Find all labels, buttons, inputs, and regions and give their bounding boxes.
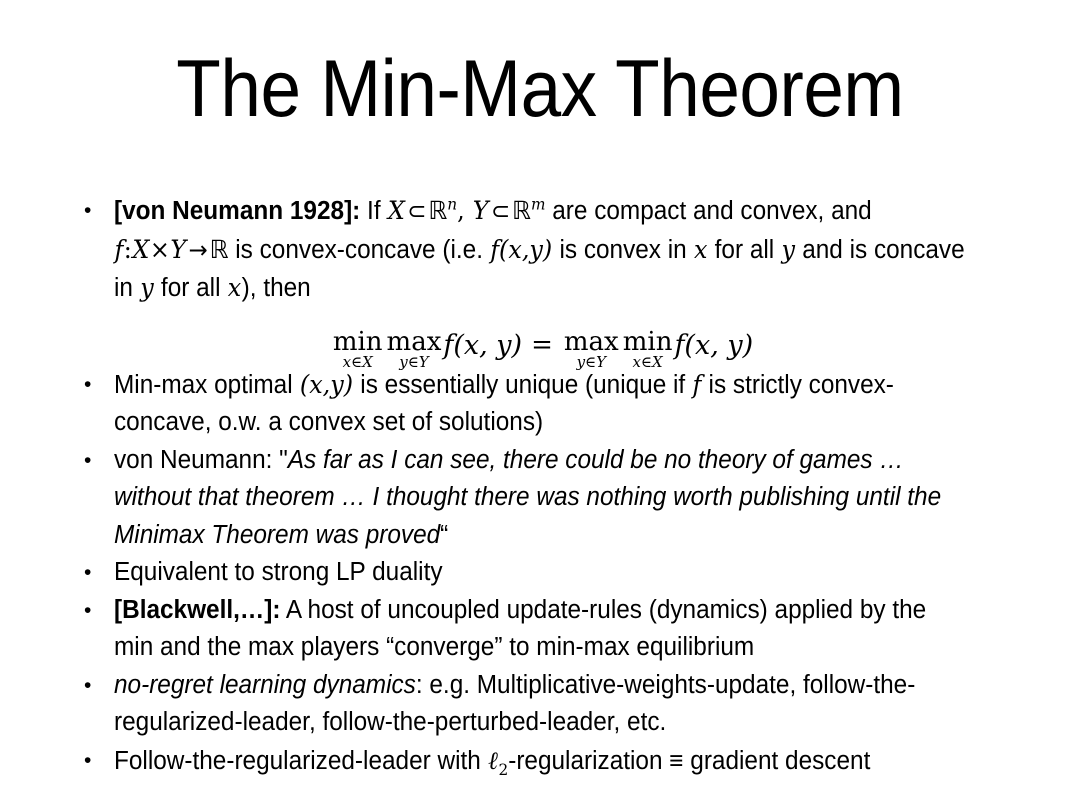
list-item-quote: • von Neumann: "As far as I can see, the… [78,442,1008,555]
math-arrow-symbol: → [187,236,210,264]
math-reals-2-exponent: m [531,195,545,214]
uniqueness-part-2: is essentially unique (unique if [354,371,692,399]
math-ell-subscript: 2 [498,760,508,779]
math-times-symbol: × [150,235,170,264]
slide: The Min-Max Theorem • [von Neumann 1928]… [0,0,1080,810]
math-domain-X: X [132,235,150,264]
quote-close-mark: “ [440,521,448,549]
min-operator-limit: x∈X [333,355,383,370]
math-var-x: x [693,235,707,264]
theorem-part-3: is convex-concave (i.e. [229,236,490,264]
minmax-equation: min x∈X max y∈Y f(x, y)= max y∈Y min x∈X… [0,327,1080,367]
von-neumann-citation-label: [von Neumann 1928]: [114,197,360,225]
theorem-part-2: are compact and convex, and [545,197,871,225]
page-title: The Min-Max Theorem [54,46,1026,133]
math-reals-1-exponent: n [447,195,457,214]
math-equivalence-symbol: ≡ [669,747,683,775]
list-item-text: [von Neumann 1928]: If X⊂ℝn, Y⊂ℝm are co… [114,192,968,308]
equation-f-right: f(x, y) [674,330,753,361]
min-operator-left: min x∈X [333,330,383,370]
max-operator-name: max [387,330,442,355]
equation-f-left: f(x, y) [443,330,522,361]
min-operator-name: min [333,330,383,355]
math-function-f: f [114,235,124,264]
no-regret-label: no-regret learning dynamics [114,671,416,699]
bullet-list: • [von Neumann 1928]: If X⊂ℝn, Y⊂ℝm are … [78,192,1008,780]
theorem-part-5: for all [708,236,781,264]
max-operator-name-2: max [564,330,619,355]
math-reals-2: ℝ [512,196,531,225]
math-var-x-2: x [227,273,241,302]
math-f-of-x-y: f(x,y) [490,235,553,264]
ftrl-part-3: gradient descent [684,747,871,775]
math-set-Y: Y [472,196,489,225]
math-ell-symbol: ℓ [488,746,499,775]
max-operator-limit: y∈Y [387,355,442,370]
math-reals-1: ℝ [428,196,447,225]
equation-equals-sign: = [522,330,562,360]
bullet-icon: • [78,192,114,230]
theorem-part-1: If [360,197,387,225]
math-codomain-reals: ℝ [210,235,229,264]
max-operator-right: max y∈Y [564,330,619,370]
uniqueness-part-1: Min-max optimal [114,371,299,399]
list-item-lp-duality: • Equivalent to strong LP duality [78,554,1008,592]
math-colon: : [124,235,132,264]
list-item-text: no-regret learning dynamics: e.g. Multip… [114,667,968,742]
list-item-von-neumann: • [von Neumann 1928]: If X⊂ℝn, Y⊂ℝm are … [78,192,1008,308]
bullet-icon: • [78,554,114,592]
math-domain-Y: Y [170,235,187,264]
theorem-part-4: is convex in [553,236,694,264]
theorem-part-7: for all [154,274,227,302]
list-item-text: Follow-the-regularized-leader with ℓ2-re… [114,742,968,781]
list-item-text: Equivalent to strong LP duality [114,554,968,592]
quote-open-mark: " [279,446,288,474]
math-function-f-uniqueness: f [692,370,702,399]
ftrl-part-1: Follow-the-regularized-leader with [114,747,488,775]
min-operator-limit-2: x∈X [623,355,673,370]
math-pair-x-y: (x,y) [299,370,353,399]
max-operator-limit-2: y∈Y [564,355,619,370]
math-set-X: X [387,196,405,225]
bullet-icon: • [78,366,114,404]
ftrl-part-2: -regularization [508,747,669,775]
list-item-text: [Blackwell,…]: A host of uncoupled updat… [114,592,968,667]
blackwell-citation-label: [Blackwell,…]: [114,596,280,624]
min-operator-right: min x∈X [623,330,673,370]
bullet-icon: • [78,442,114,480]
min-operator-name-2: min [623,330,673,355]
math-subset-symbol-2: ⊂ [489,197,512,225]
bullet-icon: • [78,667,114,705]
list-item-ftrl: • Follow-the-regularized-leader with ℓ2-… [78,742,1008,781]
math-var-y: y [781,235,795,264]
list-item-text: Min-max optimal (x,y) is essentially uni… [114,366,968,442]
math-var-y-2: y [140,273,154,302]
quote-attribution: von Neumann: [114,446,279,474]
list-item-no-regret: • no-regret learning dynamics: e.g. Mult… [78,667,1008,742]
theorem-part-8: ), then [242,274,311,302]
max-operator-left: max y∈Y [387,330,442,370]
math-subset-symbol-1: ⊂ [405,197,428,225]
list-item-uniqueness: • Min-max optimal (x,y) is essentially u… [78,366,1008,442]
math-comma-1: , [457,196,472,225]
list-item-blackwell: • [Blackwell,…]: A host of uncoupled upd… [78,592,1008,667]
list-item-text: von Neumann: "As far as I can see, there… [114,442,968,555]
bullet-icon: • [78,742,114,780]
bullet-icon: • [78,592,114,630]
